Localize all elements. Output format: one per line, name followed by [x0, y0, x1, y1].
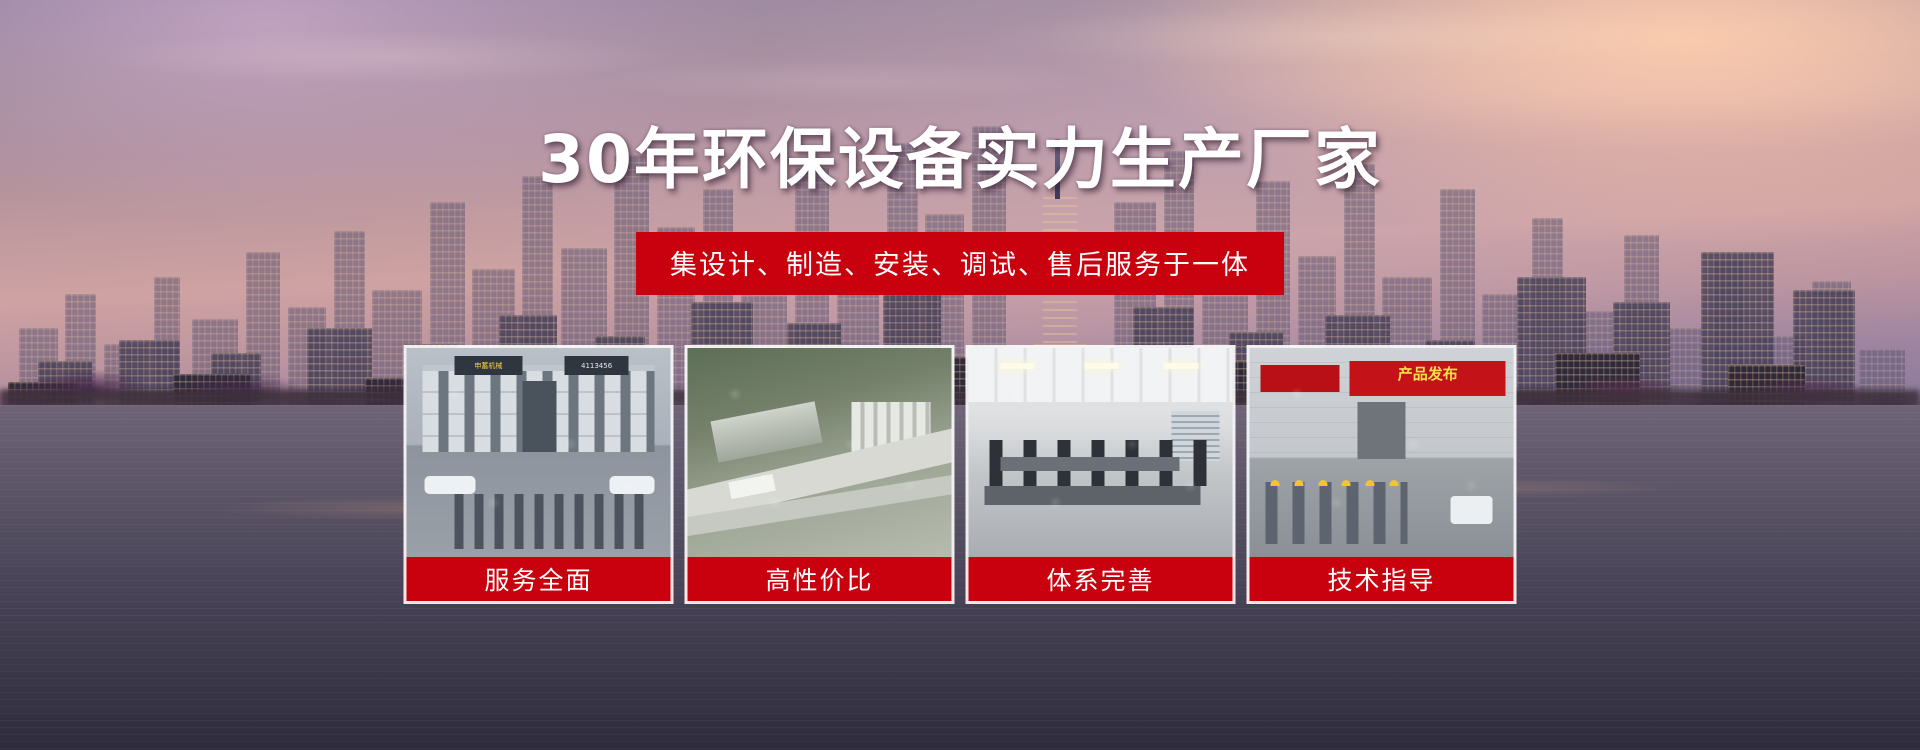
card-caption: 高性价比 [685, 557, 955, 604]
hero-banner: 30年环保设备实力生产厂家 集设计、制造、安装、调试、售后服务于一体 申蓄机械 … [0, 0, 1920, 750]
card-photo: 产品发布 [1247, 345, 1517, 557]
workshop-banner-text: 产品发布 [1350, 361, 1506, 382]
card-photo [966, 345, 1236, 557]
card-caption: 技术指导 [1247, 557, 1517, 604]
building-phone: 4113456 [565, 356, 628, 375]
card-caption: 体系完善 [966, 557, 1236, 604]
feature-card[interactable]: 高性价比 [685, 345, 955, 604]
feature-card[interactable]: 申蓄机械 4113456 服务全面 [404, 345, 674, 604]
card-photo [685, 345, 955, 557]
feature-card-list: 申蓄机械 4113456 服务全面 [404, 345, 1517, 604]
workshop-banner: 产品发布 [1350, 361, 1506, 397]
card-caption: 服务全面 [404, 557, 674, 604]
feature-card[interactable]: 体系完善 [966, 345, 1236, 604]
page-title: 30年环保设备实力生产厂家 [0, 106, 1920, 202]
subtitle-badge: 集设计、制造、安装、调试、售后服务于一体 [636, 232, 1284, 295]
feature-card[interactable]: 产品发布 技术指导 [1247, 345, 1517, 604]
subtitle-text: 集设计、制造、安装、调试、售后服务于一体 [670, 250, 1250, 281]
building-sign: 申蓄机械 [454, 356, 523, 375]
card-photo: 申蓄机械 4113456 [404, 345, 674, 557]
